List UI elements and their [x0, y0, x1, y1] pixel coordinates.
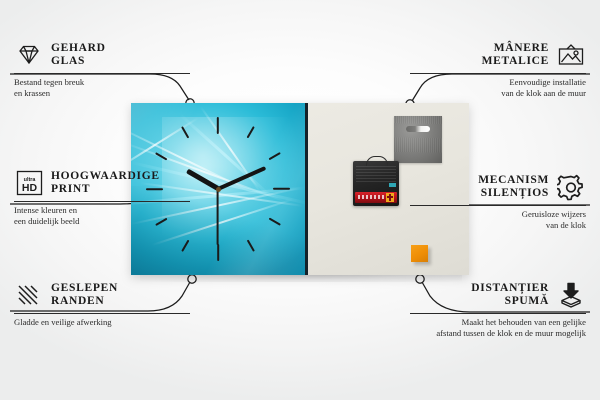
diamond-icon — [14, 40, 44, 70]
spacer-down-arrow-icon — [556, 280, 586, 310]
feature-divider — [410, 205, 586, 206]
beveled-edge-icon — [14, 280, 44, 310]
feature-description: Gladde en veilige afwerking — [14, 317, 190, 328]
feature-title-line2: RANDEN — [51, 295, 118, 309]
feature-title-line2: PRINT — [51, 183, 160, 197]
feature-desc-line1: Bestand tegen breuk — [14, 77, 190, 88]
feature-desc-line2: en krassen — [14, 88, 190, 99]
feature-desc-line1: Gladde en veilige afwerking — [14, 317, 190, 328]
feature-title-line1: DISTANȚIER — [471, 282, 549, 296]
feature-desc-line2: van de klok — [410, 220, 586, 231]
feature-title-line1: HOOGWAARDIGE — [51, 170, 160, 184]
feature-title-line1: MECANISM — [478, 174, 549, 188]
feature-title: DISTANȚIER SPUMĂ — [471, 282, 549, 309]
feature-divider — [410, 313, 586, 314]
feature-distantier-spuma: DISTANȚIER SPUMĂ Maakt het behouden van … — [410, 280, 586, 338]
feature-title-line2: GLAS — [51, 55, 106, 69]
battery — [355, 192, 397, 203]
feature-desc-line1: Intense kleuren en — [14, 205, 190, 216]
feature-description: Eenvoudige installatie van de klok aan d… — [410, 77, 586, 98]
feature-title-line1: GEHARD — [51, 42, 106, 56]
feature-title-line2: SPUMĂ — [471, 295, 549, 309]
svg-text:HD: HD — [21, 182, 37, 194]
feature-title: GEHARD GLAS — [51, 42, 106, 69]
ultra-hd-icon: ultra HD — [14, 168, 44, 198]
feature-manere-metalice: MÂNERE METALICE Eenvoudige installatie v… — [410, 40, 586, 98]
feature-geslepen-randen: GESLEPEN RANDEN Gladde en veilige afwerk… — [14, 280, 190, 328]
feature-title-line2: METALICE — [482, 55, 549, 69]
feature-description: Intense kleuren en een duidelijk beeld — [14, 205, 190, 226]
feature-desc-line1: Geruisloze wijzers — [410, 209, 586, 220]
feature-title-line1: MÂNERE — [482, 42, 549, 56]
gear-icon — [556, 172, 586, 202]
feature-desc-line1: Maakt het behouden van een gelijke — [410, 317, 586, 328]
feature-divider — [14, 313, 190, 314]
clock-tick — [217, 244, 219, 261]
feature-divider — [14, 73, 190, 74]
feature-description: Geruisloze wijzers van de klok — [410, 209, 586, 230]
infographic-canvas: GEHARD GLAS Bestand tegen breuk en krass… — [0, 0, 600, 400]
feature-description: Bestand tegen breuk en krassen — [14, 77, 190, 98]
picture-frame-icon — [556, 40, 586, 70]
clock-second-hand — [217, 189, 219, 245]
feature-title: HOOGWAARDIGE PRINT — [51, 170, 160, 197]
feature-title: MÂNERE METALICE — [482, 42, 549, 69]
feature-title-line1: GESLEPEN — [51, 282, 118, 296]
feature-title: MECANISM SILENȚIOS — [478, 174, 549, 201]
feature-desc-line2: van de klok aan de muur — [410, 88, 586, 99]
feature-title: GESLEPEN RANDEN — [51, 282, 118, 309]
feature-desc-line2: afstand tussen de klok en de muur mogeli… — [410, 328, 586, 339]
feature-gehard-glas: GEHARD GLAS Bestand tegen breuk en krass… — [14, 40, 190, 98]
feature-desc-line2: een duidelijk beeld — [14, 216, 190, 227]
feature-description: Maakt het behouden van een gelijke afsta… — [410, 317, 586, 338]
clock-center-hub — [216, 187, 221, 192]
foam-spacer — [411, 245, 428, 262]
feature-divider — [14, 201, 190, 202]
clock-mechanism-box — [353, 161, 399, 206]
feature-title-line2: SILENȚIOS — [478, 187, 549, 201]
metal-hanger-plate — [394, 116, 442, 163]
feature-mecanism-silentios: MECANISM SILENȚIOS Geruisloze wijzers va… — [410, 172, 586, 230]
feature-hoogwaardige-print: ultra HD HOOGWAARDIGE PRINT Intense kleu… — [14, 168, 190, 226]
feature-desc-line1: Eenvoudige installatie — [410, 77, 586, 88]
feature-divider — [410, 73, 586, 74]
